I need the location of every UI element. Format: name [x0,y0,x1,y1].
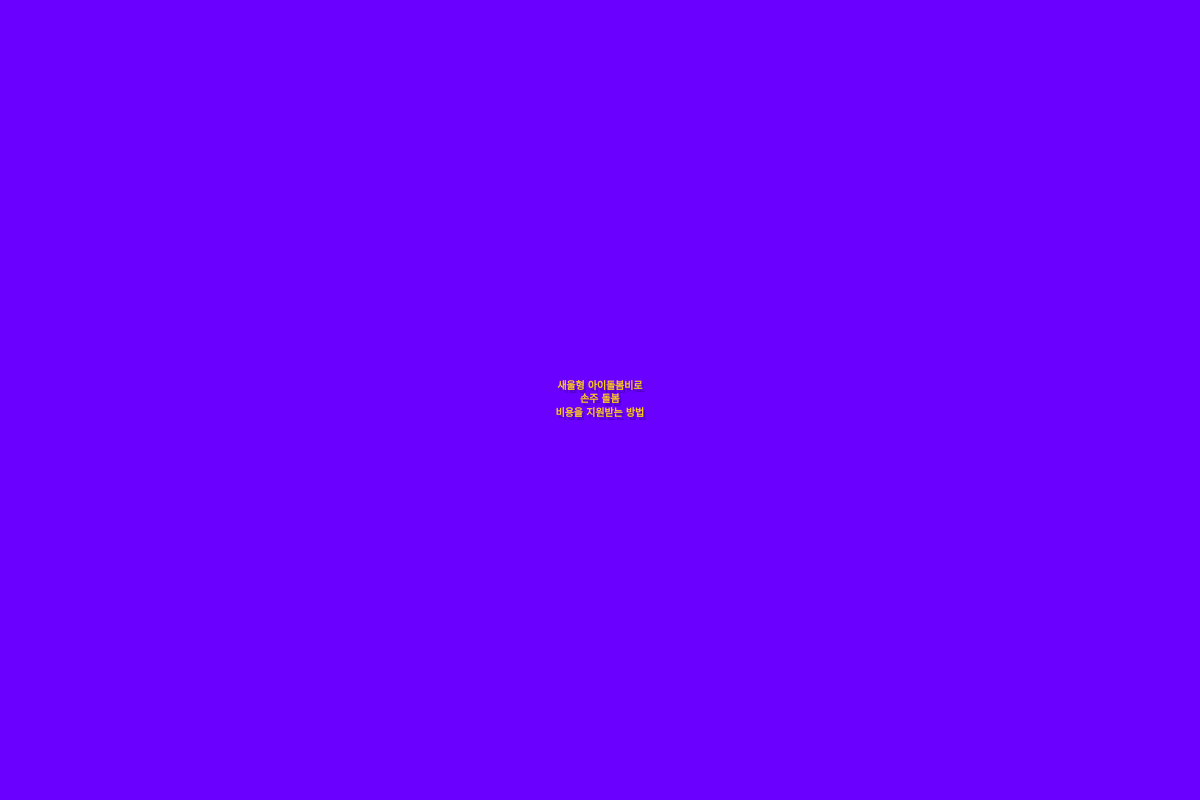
headline-block: 새울형 아이돌봄비로 손주 돌봄 비용을 지원받는 방법 [0,380,1200,420]
headline-line-1: 새울형 아이돌봄비로 [8,380,1192,393]
headline-line-3: 비용을 지원받는 방법 [8,407,1192,420]
banner-canvas: 새울형 아이돌봄비로 손주 돌봄 비용을 지원받는 방법 [0,0,1200,800]
headline-line-2: 손주 돌봄 [8,393,1192,406]
